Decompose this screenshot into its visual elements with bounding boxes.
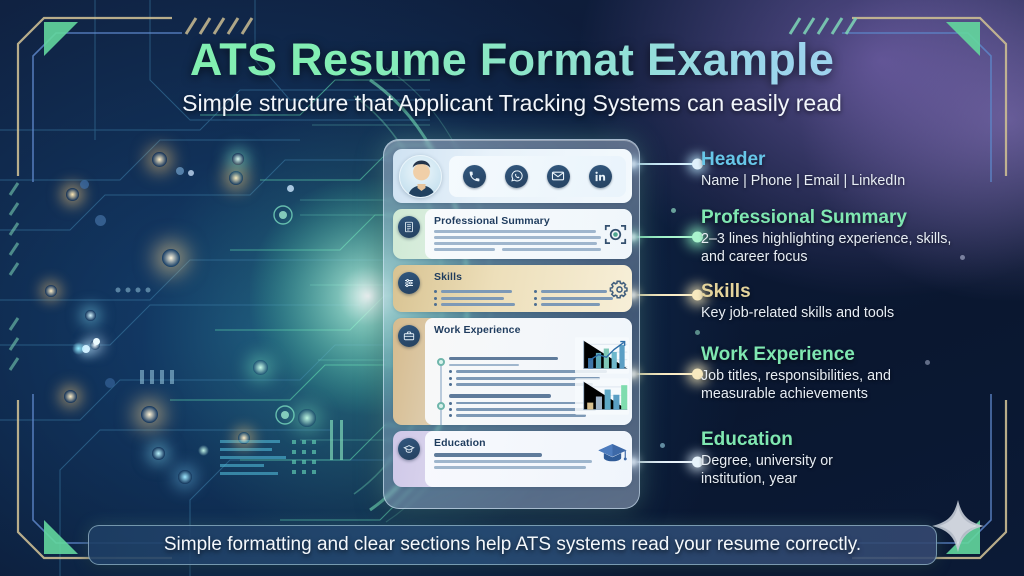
connector-work	[632, 373, 698, 375]
callout-description: Key job-related skills and tools	[701, 304, 981, 322]
section-body: Work Experience	[425, 318, 632, 425]
whatsapp-icon[interactable]	[505, 165, 528, 188]
briefcase-icon	[398, 325, 420, 347]
skill-item	[434, 297, 525, 300]
infographic-canvas: ATS Resume Format Example Simple structu…	[0, 0, 1024, 576]
page-subtitle: Simple structure that Applicant Tracking…	[0, 90, 1024, 117]
graduation-cap-icon	[398, 438, 420, 460]
scan-focus-icon	[604, 223, 627, 251]
job-title-line	[449, 357, 558, 360]
avatar	[399, 155, 442, 198]
skill-item	[434, 290, 525, 293]
text-line	[434, 248, 495, 251]
hash-marks	[790, 18, 856, 34]
bar-chart-icon	[575, 378, 629, 420]
section-body: Professional Summary	[425, 209, 632, 259]
text-line	[449, 364, 519, 367]
section-title: Education	[434, 437, 624, 449]
hash-marks	[186, 18, 252, 34]
sliders-icon	[398, 272, 420, 294]
callout-heading: Education	[701, 430, 881, 450]
bottom-banner: Simple formatting and clear sections hel…	[88, 525, 937, 565]
text-line	[434, 236, 601, 239]
resume-section-work[interactable]: Work Experience	[393, 318, 632, 425]
job-title-line	[449, 394, 551, 397]
bar-chart-icon	[575, 337, 629, 379]
page-title: ATS Resume Format Example	[0, 34, 1024, 86]
section-title: Work Experience	[434, 324, 624, 336]
skills-columns	[434, 287, 624, 306]
callout-summary: Professional Summary 2–3 lines highlight…	[701, 208, 969, 267]
resume-card[interactable]: Professional Summary	[383, 139, 640, 509]
callout-education: Education Degree, university or institut…	[701, 430, 881, 489]
skills-column	[434, 287, 525, 306]
contact-icons-strip	[449, 156, 626, 197]
callout-description: 2–3 lines highlighting experience, skill…	[701, 230, 969, 267]
connector-skills	[632, 294, 698, 296]
resume-section-summary[interactable]: Professional Summary	[393, 209, 632, 259]
banner-text: Simple formatting and clear sections hel…	[164, 534, 861, 556]
text-line	[434, 230, 596, 233]
skill-item	[434, 303, 525, 306]
section-badge-bar	[393, 318, 425, 425]
section-body: Education	[425, 431, 632, 487]
callout-description: Name | Phone | Email | LinkedIn	[701, 172, 981, 190]
linkedin-icon[interactable]	[589, 165, 612, 188]
callout-header: Header Name | Phone | Email | LinkedIn	[701, 150, 981, 190]
callout-skills: Skills Key job-related skills and tools	[701, 282, 981, 322]
resume-section-skills[interactable]: Skills	[393, 265, 632, 312]
section-badge-bar	[393, 209, 425, 259]
timeline-dot	[437, 358, 445, 366]
resume-header-row[interactable]	[393, 149, 632, 203]
timeline-dot	[437, 402, 445, 410]
section-badge-bar	[393, 265, 425, 312]
callout-heading: Professional Summary	[701, 208, 969, 228]
gear-icon	[609, 279, 630, 305]
resume-section-education[interactable]: Education	[393, 431, 632, 487]
text-line	[434, 453, 542, 457]
section-badge-bar	[393, 431, 425, 487]
connector-header	[632, 163, 698, 165]
connector-education	[632, 461, 698, 463]
callout-heading: Skills	[701, 282, 981, 302]
callout-description: Degree, university or institution, year	[701, 452, 881, 489]
text-line	[434, 466, 586, 469]
text-line	[434, 460, 592, 463]
phone-icon[interactable]	[463, 165, 486, 188]
section-title: Professional Summary	[434, 215, 624, 227]
graduation-cap-icon	[597, 442, 628, 471]
text-line	[502, 248, 601, 251]
timeline-spine	[440, 361, 442, 425]
email-icon[interactable]	[547, 165, 570, 188]
callout-description: Job titles, responsibilities, and measur…	[701, 367, 963, 404]
document-icon	[398, 216, 420, 238]
section-body: Skills	[425, 265, 632, 312]
callout-work: Work Experience Job titles, responsibili…	[701, 345, 963, 404]
callout-heading: Header	[701, 150, 981, 170]
callout-heading: Work Experience	[701, 345, 963, 365]
section-title: Skills	[434, 271, 624, 283]
connector-summary	[632, 236, 698, 238]
